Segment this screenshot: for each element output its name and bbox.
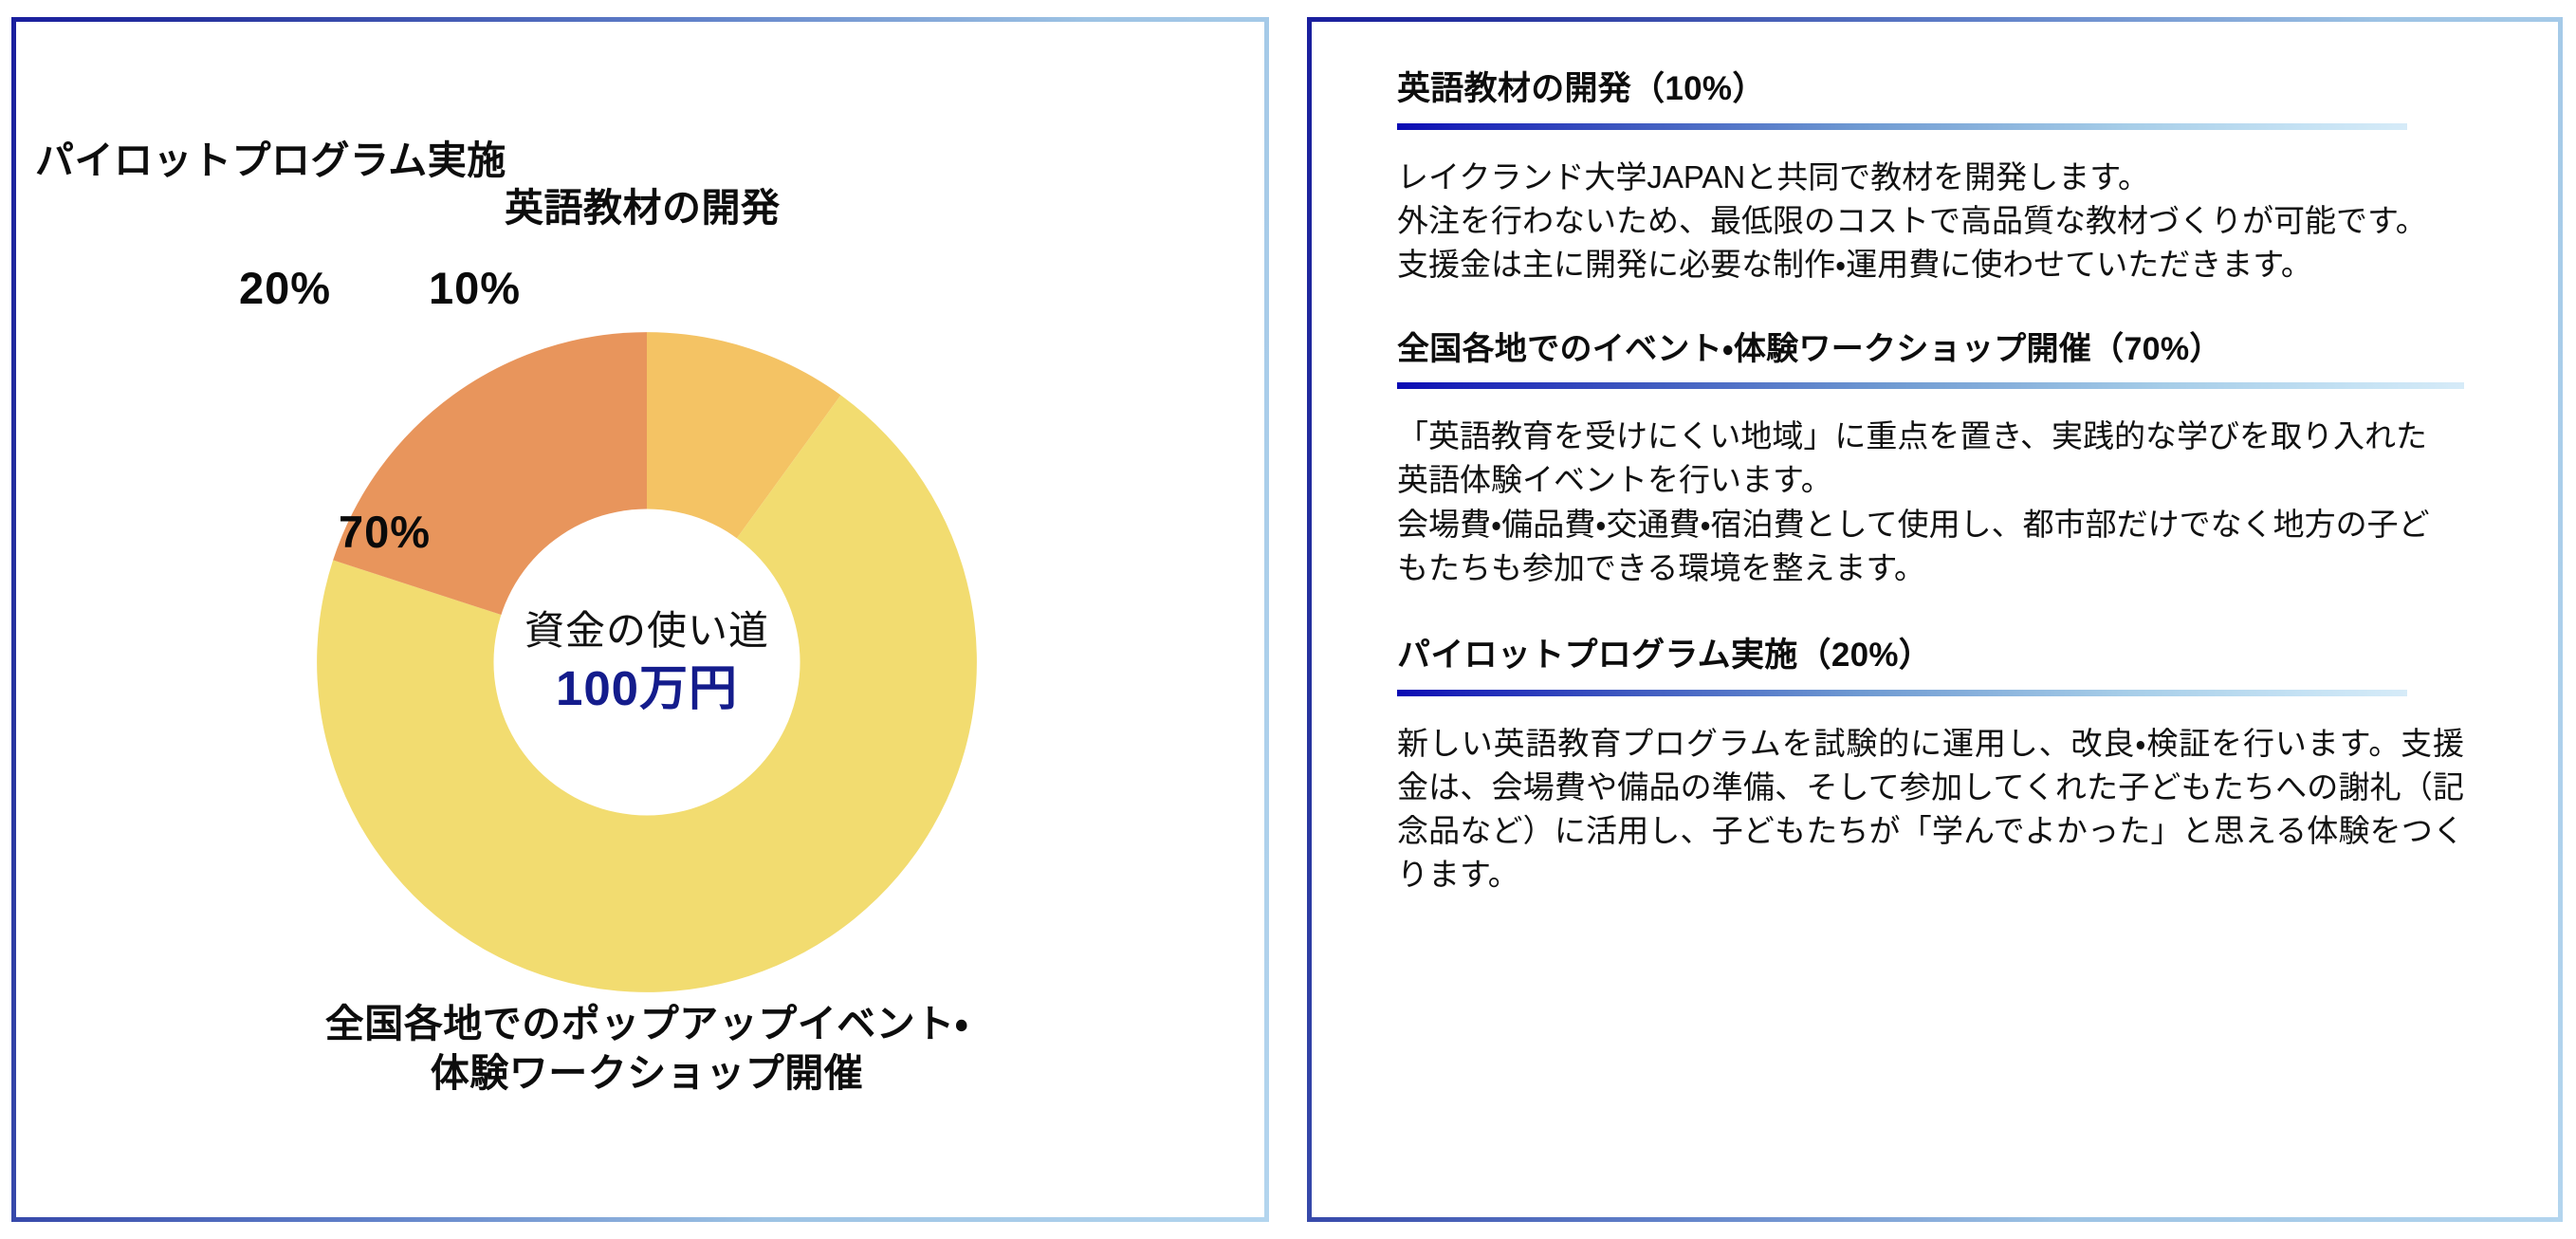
section-body-line: 外注を行わないため、最低限のコストで高品質な教材づくりが可能です。 — [1397, 199, 2431, 243]
slide-canvas: 20% 10% 70% 資金の使い道 100万円 パイロットプログラム実施 英語… — [0, 0, 2576, 1239]
chart-label-nationwide-events: 全国各地でのポップアップイベント・ 体験ワークショップ開催 — [116, 999, 1178, 1099]
section-body-line: 支援金は主に開発に必要な制作・運用費に使わせていただきます。 — [1397, 243, 2431, 287]
chart-label-nationwide-events-line2: 体験ワークショップ開催 — [431, 1051, 864, 1095]
section-heading-rule — [1397, 690, 2407, 696]
donut-value-label-10: 10% — [429, 262, 521, 314]
right-panel-inner: 英語教材の開発（10%） レイクランド大学JAPANと共同で教材を開発します。 … — [1312, 22, 2558, 1217]
donut-value-label-70: 70% — [339, 506, 431, 558]
left-panel-inner: 20% 10% 70% 資金の使い道 100万円 パイロットプログラム実施 英語… — [16, 22, 1264, 1217]
section-body-line: 「英語教育を受けにくい地域」に重点を置き、実践的な学びを取り入れた英語体験イベン… — [1397, 415, 2440, 502]
section-material-development: 英語教材の開発（10%） レイクランド大学JAPANと共同で教材を開発します。 … — [1397, 67, 2478, 287]
section-body-line: レイクランド大学JAPANと共同で教材を開発します。 — [1397, 156, 2431, 199]
section-body-line: 新しい英語教育プログラムを試験的に運用し、改良・検証を行います。支援金は、会場費… — [1397, 722, 2464, 897]
section-heading: パイロットプログラム実施（20%） — [1397, 634, 2478, 677]
left-panel-frame: 20% 10% 70% 資金の使い道 100万円 パイロットプログラム実施 英語… — [11, 17, 1269, 1222]
donut-chart-svg — [310, 325, 984, 999]
donut-value-label-20: 20% — [239, 262, 331, 314]
section-heading: 英語教材の開発（10%） — [1397, 67, 2478, 111]
section-nationwide-events: 全国各地でのイベント・体験ワークショップ開催（70%） 「英語教育を受けにくい地… — [1397, 328, 2478, 590]
donut-chart: 20% 10% 70% 資金の使い道 100万円 パイロットプログラム実施 英語… — [16, 22, 1264, 1217]
breakdown-sections: 英語教材の開発（10%） レイクランド大学JAPANと共同で教材を開発します。 … — [1397, 67, 2478, 897]
section-heading-rule — [1397, 123, 2407, 130]
section-body: レイクランド大学JAPANと共同で教材を開発します。 外注を行わないため、最低限… — [1397, 156, 2431, 287]
right-panel-frame: 英語教材の開発（10%） レイクランド大学JAPANと共同で教材を開発します。 … — [1307, 17, 2563, 1222]
section-heading: 全国各地でのイベント・体験ワークショップ開催（70%） — [1397, 328, 2478, 370]
section-body: 新しい英語教育プログラムを試験的に運用し、改良・検証を行います。支援金は、会場費… — [1397, 722, 2464, 897]
donut-hole — [493, 509, 800, 815]
section-body: 「英語教育を受けにくい地域」に重点を置き、実践的な学びを取り入れた英語体験イベン… — [1397, 415, 2440, 590]
section-body-line: 会場費・備品費・交通費・宿泊費として使用し、都市部だけでなく地方の子どもたちも参… — [1397, 503, 2440, 590]
chart-label-nationwide-events-line1: 全国各地でのポップアップイベント・ — [325, 1002, 968, 1045]
section-heading-rule — [1397, 382, 2464, 389]
section-pilot-program: パイロットプログラム実施（20%） 新しい英語教育プログラムを試験的に運用し、改… — [1397, 634, 2478, 897]
chart-label-pilot-program: パイロットプログラム実施 — [35, 136, 506, 185]
chart-label-material-development: 英語教材の開発 — [505, 183, 781, 232]
